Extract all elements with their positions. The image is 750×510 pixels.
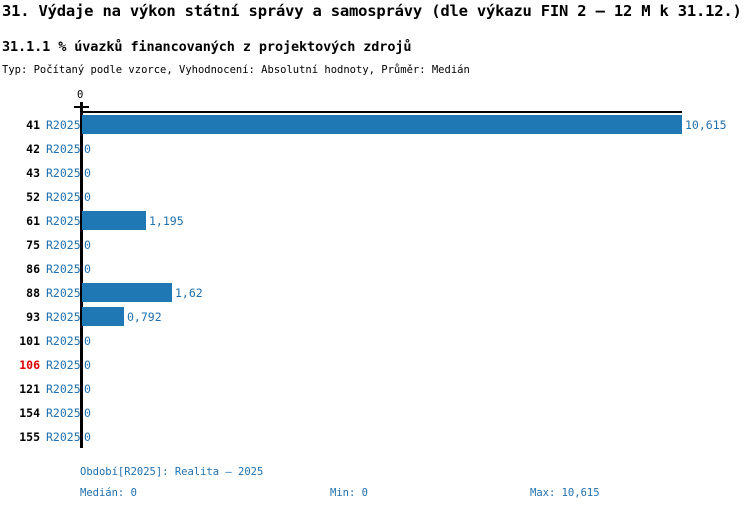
chart-row[interactable]: 41R202510,615 [0, 113, 750, 137]
row-number: 52 [0, 190, 40, 204]
axis-tick-zero [74, 106, 89, 108]
legend-period: Období[R2025]: Realita – 2025 [80, 466, 263, 478]
chart-row[interactable]: 155R20250 [0, 425, 750, 449]
chart-row[interactable]: 154R20250 [0, 401, 750, 425]
value-label: 10,615 [685, 118, 727, 132]
indicator-title: 31.1.1 % úvazků financovaných z projekto… [2, 39, 411, 55]
row-period-label: R2025 [46, 262, 81, 276]
row-period-label: R2025 [46, 430, 81, 444]
row-period-label: R2025 [46, 286, 81, 300]
chart-row[interactable]: 42R20250 [0, 137, 750, 161]
row-period-label: R2025 [46, 310, 81, 324]
value-bar[interactable] [82, 307, 124, 326]
row-number: 121 [0, 382, 40, 396]
row-period-label: R2025 [46, 142, 81, 156]
value-label: 0 [84, 238, 91, 252]
row-number: 41 [0, 118, 40, 132]
chart-row[interactable]: 75R20250 [0, 233, 750, 257]
value-label: 0 [84, 142, 91, 156]
bar-chart: 0 41R202510,61542R2025043R2025052R202506… [0, 88, 750, 460]
axis-tick-label-zero: 0 [77, 89, 83, 101]
row-period-label: R2025 [46, 166, 81, 180]
stat-max: Max: 10,615 [530, 487, 600, 499]
chart-row[interactable]: 93R20250,792 [0, 305, 750, 329]
chart-row[interactable]: 101R20250 [0, 329, 750, 353]
page-title: 31. Výdaje na výkon státní správy a samo… [2, 2, 742, 20]
chart-row[interactable]: 86R20250 [0, 257, 750, 281]
value-bar[interactable] [82, 211, 146, 230]
value-label: 0 [84, 190, 91, 204]
row-period-label: R2025 [46, 406, 81, 420]
row-period-label: R2025 [46, 358, 81, 372]
value-label: 0 [84, 406, 91, 420]
row-period-label: R2025 [46, 214, 81, 228]
row-number: 86 [0, 262, 40, 276]
indicator-meta: Typ: Počítaný podle vzorce, Vyhodnocení:… [2, 64, 470, 76]
chart-row[interactable]: 106R20250 [0, 353, 750, 377]
value-label: 1,62 [175, 286, 203, 300]
value-bar[interactable] [82, 115, 682, 134]
row-number: 88 [0, 286, 40, 300]
chart-row[interactable]: 61R20251,195 [0, 209, 750, 233]
row-number: 154 [0, 406, 40, 420]
value-label: 0 [84, 334, 91, 348]
row-period-label: R2025 [46, 190, 81, 204]
chart-row[interactable]: 121R20250 [0, 377, 750, 401]
stat-median: Medián: 0 [80, 487, 137, 499]
row-period-label: R2025 [46, 118, 81, 132]
row-number: 101 [0, 334, 40, 348]
value-label: 0 [84, 430, 91, 444]
chart-row[interactable]: 43R20250 [0, 161, 750, 185]
chart-row[interactable]: 88R20251,62 [0, 281, 750, 305]
row-number: 93 [0, 310, 40, 324]
value-bar[interactable] [82, 283, 172, 302]
chart-row[interactable]: 52R20250 [0, 185, 750, 209]
row-number: 61 [0, 214, 40, 228]
row-number: 43 [0, 166, 40, 180]
value-label: 0 [84, 358, 91, 372]
row-number: 42 [0, 142, 40, 156]
value-label: 0 [84, 382, 91, 396]
row-number: 75 [0, 238, 40, 252]
value-label: 0 [84, 166, 91, 180]
value-label: 0 [84, 262, 91, 276]
row-number: 155 [0, 430, 40, 444]
value-label: 0,792 [127, 310, 162, 324]
row-period-label: R2025 [46, 334, 81, 348]
row-period-label: R2025 [46, 382, 81, 396]
stat-min: Min: 0 [330, 487, 368, 499]
row-number: 106 [0, 358, 40, 372]
row-period-label: R2025 [46, 238, 81, 252]
value-label: 1,195 [149, 214, 184, 228]
